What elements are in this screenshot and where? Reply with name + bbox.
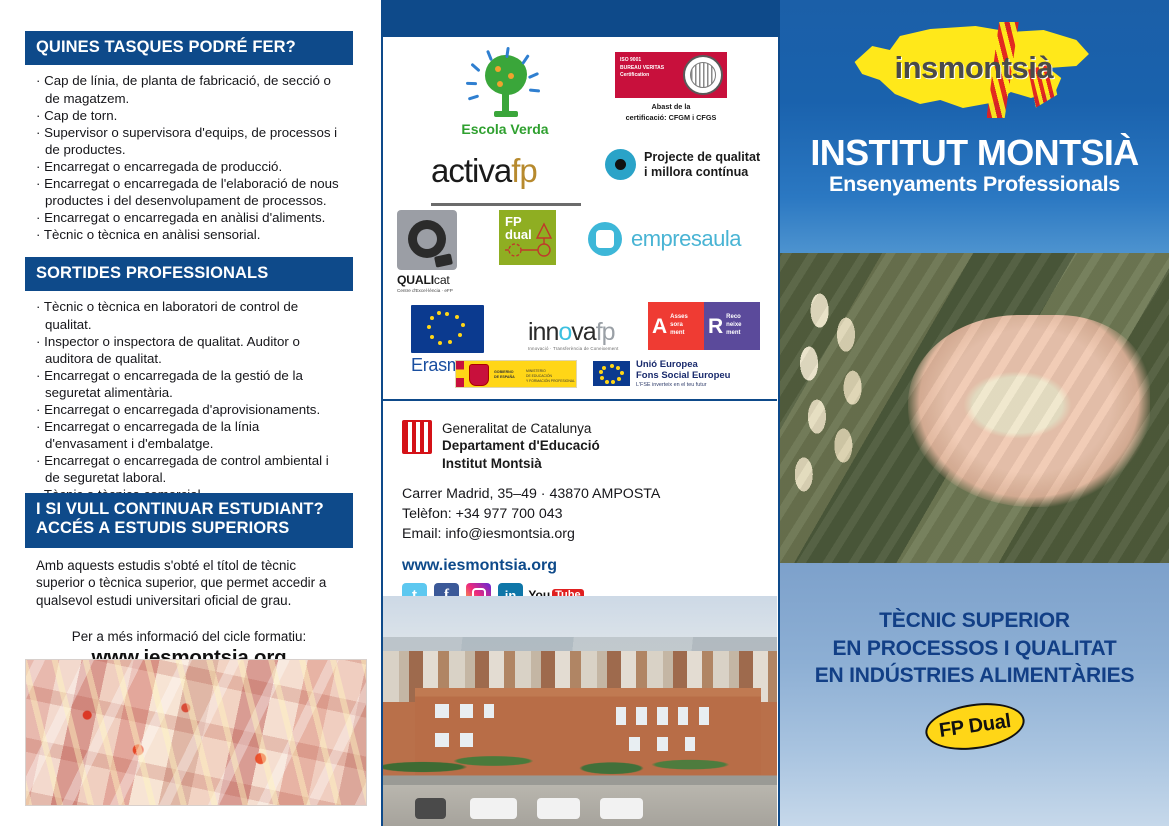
contact-block: Generalitat de Catalunya Departament d'E…	[402, 420, 772, 608]
right-panel: insmontsià INSTITUT MONTSIÀ Ensenyaments…	[780, 0, 1169, 826]
insmontsia-wordmark: insmontsià	[895, 50, 1054, 86]
qualicat-light: cat	[434, 273, 450, 287]
tasks-list: Cap de línia, de planta de fabricació, d…	[25, 65, 353, 247]
logo-projecte-qualitat: Projecte de qualitat i millora contínua	[605, 149, 760, 180]
fpdual-diagram-icon	[499, 210, 556, 265]
empresaula-icon	[588, 222, 622, 256]
pq-line2: i millora contínua	[644, 165, 760, 180]
left-panel: QUINES TASQUES PODRÉ FER? Cap de línia, …	[0, 0, 370, 826]
ar-r-letter: R	[708, 316, 723, 337]
innova-p1: inn	[528, 318, 558, 346]
section-heading-tasks: QUINES TASQUES PODRÉ FER?	[25, 31, 353, 65]
innova-p4: fp	[596, 318, 615, 346]
logo-gobierno-espana: GOBIERNO DE ESPAÑA MINISTERIO DE EDUCACI…	[455, 360, 577, 388]
grain-hands-photo	[780, 253, 1169, 563]
logo-empresaula: empresaula	[588, 222, 741, 256]
org-line2: Departament d'Educació	[442, 437, 600, 454]
org-line3: Institut Montsià	[442, 455, 600, 472]
eu-flag-small-icon	[593, 361, 630, 386]
phone-line[interactable]: Telèfon: +34 977 700 043	[402, 504, 772, 524]
middle-panel: F-198 Informació Oferta Educativa per Oc…	[370, 0, 780, 826]
list-item: Cap de línia, de planta de fabricació, d…	[36, 72, 343, 106]
qualicat-bold: QUALI	[397, 273, 434, 287]
address-line: Carrer Madrid, 35–49 · 43870 AMPOSTA	[402, 484, 772, 504]
further-heading-line2: ACCÉS A ESTUDIS SUPERIORS	[36, 519, 342, 538]
ar-a-letter: A	[652, 316, 667, 337]
list-item: Encarregat o encarregada de la línia d'e…	[36, 418, 343, 452]
list-item: Inspector o inspectora de qualitat. Audi…	[36, 333, 343, 367]
brochure-page: QUINES TASQUES PODRÉ FER? Cap de línia, …	[0, 0, 1169, 826]
qualicat-name: QUALIcat	[397, 273, 477, 287]
partner-logos: Escola Verda activafp ISO 9001 BUREAU VE…	[383, 40, 777, 395]
logo-qualicat: QUALIcat Centre d'Excel·lència · eFP	[397, 210, 477, 293]
course-title: TÈCNIC SUPERIOR EN PROCESSOS I QUALITAT …	[780, 563, 1169, 690]
list-item: Encarregat o encarregada de l'elaboració…	[36, 175, 343, 209]
activafp-rule	[431, 203, 581, 206]
bv-caption-line1: Abast de la	[615, 102, 727, 113]
pq-line1: Projecte de qualitat	[644, 150, 760, 165]
ar-a-text: Asses sora ment	[670, 314, 688, 337]
gob-line2: MINISTERIO DE EDUCACIÓN Y FORMACIÓN PROF…	[526, 369, 575, 383]
tree-icon	[468, 52, 542, 118]
bv-caption-line2: certificació: CFGM i CFGS	[615, 113, 727, 124]
institute-subtitle: Ensenyaments Professionals	[780, 172, 1169, 197]
bv-sub: Certification	[620, 72, 664, 80]
course-line3: EN INDÚSTRIES ALIMENTÀRIES	[780, 662, 1169, 690]
school-building-photo	[383, 596, 777, 826]
org-line1: Generalitat de Catalunya	[442, 420, 600, 437]
qualicat-q-icon	[397, 210, 457, 270]
bv-name: BUREAU VERITAS	[620, 65, 664, 73]
bureau-veritas-badge: ISO 9001 BUREAU VERITAS Certification	[615, 52, 727, 98]
insmontsia-logo: insmontsià	[845, 12, 1105, 130]
list-item: Encarregat o encarregada d'aprovisioname…	[36, 401, 343, 418]
section-heading-careers: SORTIDES PROFESSIONALS	[25, 257, 353, 291]
more-info-label: Per a més informació del cicle formatiu:	[25, 629, 353, 644]
innova-p2: o	[558, 318, 571, 346]
logo-innovafp: innovafp Innovació · Transferència de Co…	[528, 318, 619, 351]
ue-line2: Fons Social Europeu	[636, 370, 731, 381]
logo-escola-verda: Escola Verda	[445, 52, 565, 137]
qualicat-sub: Centre d'Excel·lència · eFP	[397, 288, 477, 293]
careers-list: Tècnic o tècnica en laboratori de contro…	[25, 291, 353, 507]
logo-fp-dual-green: FP dual	[499, 210, 556, 265]
course-line1: TÈCNIC SUPERIOR	[780, 607, 1169, 635]
logo-assessorament-reconeixement: A Asses sora ment R Reco neixe ment	[648, 302, 760, 350]
list-item: Supervisor o supervisora d'equips, de pr…	[36, 124, 343, 158]
circle-icon	[605, 149, 636, 180]
middle-top-bar	[381, 0, 780, 37]
ar-box-a: A Asses sora ment	[648, 302, 704, 350]
ue-line3: L'FSE inverteix en el teu futur	[636, 382, 731, 388]
list-item: Encarregat o encarregada de producció.	[36, 158, 343, 175]
gob-line1: GOBIERNO DE ESPAÑA	[494, 370, 515, 380]
activafp-part1: activa	[431, 152, 511, 189]
bv-caption: Abast de la certificació: CFGM i CFGS	[615, 102, 727, 123]
empresaula-label: empresaula	[631, 226, 741, 252]
list-item: Tècnic o tècnica en anàlisi sensorial.	[36, 226, 343, 243]
activafp-part2: fp	[511, 152, 537, 189]
bv-seal-icon	[683, 55, 723, 95]
fp-dual-badge: FP Dual	[922, 697, 1027, 755]
fish-photo-texture	[26, 660, 366, 805]
logo-unio-europea: Unió Europea Fons Social Europeu L'FSE i…	[593, 359, 731, 388]
list-item: Encarregat o encarregada en anàlisi d'al…	[36, 209, 343, 226]
eu-flag-icon	[411, 305, 484, 353]
course-line2: EN PROCESSOS I QUALITAT	[780, 635, 1169, 663]
fp-dual-badge-label: FP Dual	[937, 710, 1012, 743]
logo-activafp: activafp	[431, 152, 581, 206]
further-heading-line1: I SI VULL CONTINUAR ESTUDIANT?	[36, 500, 342, 519]
photo-texture	[780, 253, 1169, 563]
list-item: Encarregat o encarregada de la gestió de…	[36, 367, 343, 401]
bv-iso: ISO 9001	[620, 57, 664, 65]
email-line[interactable]: Email: info@iesmontsia.org	[402, 524, 772, 544]
innova-p3: va	[571, 318, 595, 346]
ue-line1: Unió Europea	[636, 359, 731, 370]
ar-box-r: R Reco neixe ment	[704, 302, 760, 350]
list-item: Tècnic o tècnica en laboratori de contro…	[36, 298, 343, 332]
right-panel-footer: TÈCNIC SUPERIOR EN PROCESSOS I QUALITAT …	[780, 563, 1169, 826]
institute-name: INSTITUT MONTSIÀ	[780, 132, 1169, 174]
list-item: Encarregat o encarregada de control ambi…	[36, 452, 343, 486]
website-link-middle[interactable]: www.iesmontsia.org	[402, 557, 772, 575]
right-panel-header: insmontsià INSTITUT MONTSIÀ Ensenyaments…	[780, 0, 1169, 253]
innova-sub: Innovació · Transferència de Coneixement	[528, 346, 619, 351]
section-heading-further-studies: I SI VULL CONTINUAR ESTUDIANT? ACCÉS A E…	[25, 493, 353, 548]
further-paragraph: Amb aquests estudis s'obté el títol de t…	[25, 548, 353, 610]
generalitat-shield-icon	[402, 420, 432, 454]
logos-divider	[383, 399, 777, 401]
list-item: Cap de torn.	[36, 107, 343, 124]
spain-shield-icon	[469, 364, 489, 386]
escola-verda-label: Escola Verda	[445, 121, 565, 137]
logo-bureau-veritas: ISO 9001 BUREAU VERITAS Certification Ab…	[615, 52, 727, 123]
ar-r-text: Reco neixe ment	[726, 314, 741, 337]
fish-photo	[25, 659, 367, 806]
